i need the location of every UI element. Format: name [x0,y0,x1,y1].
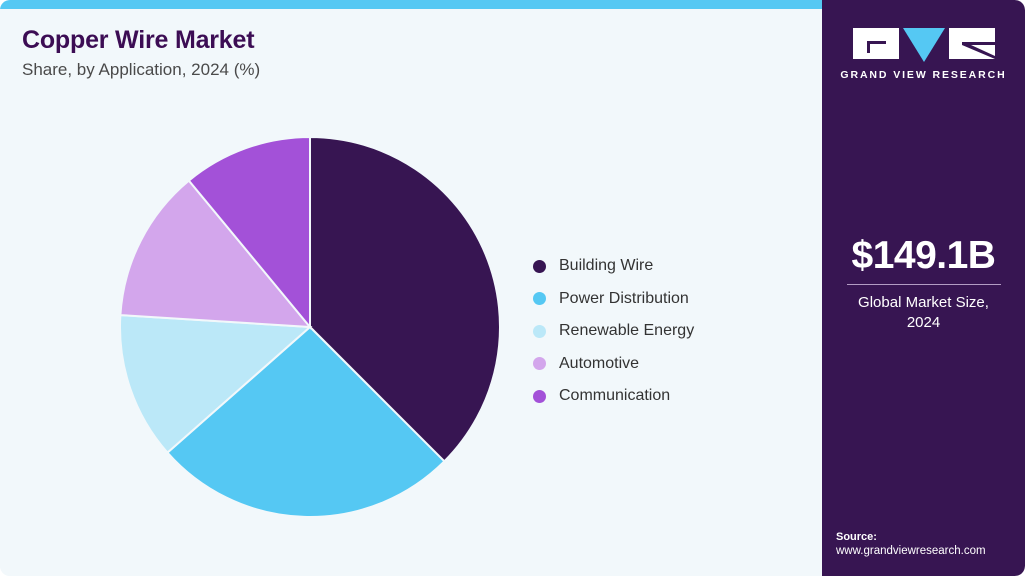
source-label: Source: [836,530,1021,545]
legend-swatch-icon [533,292,546,305]
legend-item[interactable]: Automotive [533,348,803,381]
pie-slices [120,137,500,517]
legend-item-label: Automotive [559,356,639,372]
page-title: Copper Wire Market [22,26,722,55]
logo-wordmark: GRAND VIEW RESEARCH [822,69,1025,81]
page-subtitle: Share, by Application, 2024 (%) [22,60,722,80]
pie-chart-svg [116,133,504,521]
legend-item[interactable]: Renewable Energy [533,315,803,348]
logo-marks [822,28,1025,62]
logo-g-icon [853,28,899,59]
legend-item-label: Building Wire [559,258,653,274]
legend-swatch-icon [533,260,546,273]
stat-caption: Global Market Size, 2024 [822,293,1025,334]
legend-item[interactable]: Power Distribution [533,283,803,316]
logo-v-icon [903,28,945,62]
top-accent-bar [0,0,822,9]
legend-item-label: Power Distribution [559,291,689,307]
infographic-card: Copper Wire Market Share, by Application… [0,0,1025,576]
source-block: Source: www.grandviewresearch.com [836,530,1021,560]
title-block: Copper Wire Market Share, by Application… [22,26,722,80]
legend-swatch-icon [533,357,546,370]
logo-r-icon [949,28,995,59]
legend-item-label: Communication [559,388,670,404]
pie-chart [116,133,504,521]
chart-panel: Copper Wire Market Share, by Application… [0,0,822,576]
brand-panel: GRAND VIEW RESEARCH $149.1B Global Marke… [822,0,1025,576]
chart-legend: Building Wire Power Distribution Renewab… [533,250,803,413]
stat-divider [847,284,1001,285]
legend-swatch-icon [533,325,546,338]
market-size-stat: $149.1B Global Market Size, 2024 [822,236,1025,334]
legend-swatch-icon [533,390,546,403]
legend-item[interactable]: Building Wire [533,250,803,283]
stat-value: $149.1B [822,236,1025,275]
gvr-logo: GRAND VIEW RESEARCH [822,28,1025,81]
source-url: www.grandviewresearch.com [836,544,1021,560]
legend-item[interactable]: Communication [533,380,803,413]
legend-item-label: Renewable Energy [559,323,694,339]
